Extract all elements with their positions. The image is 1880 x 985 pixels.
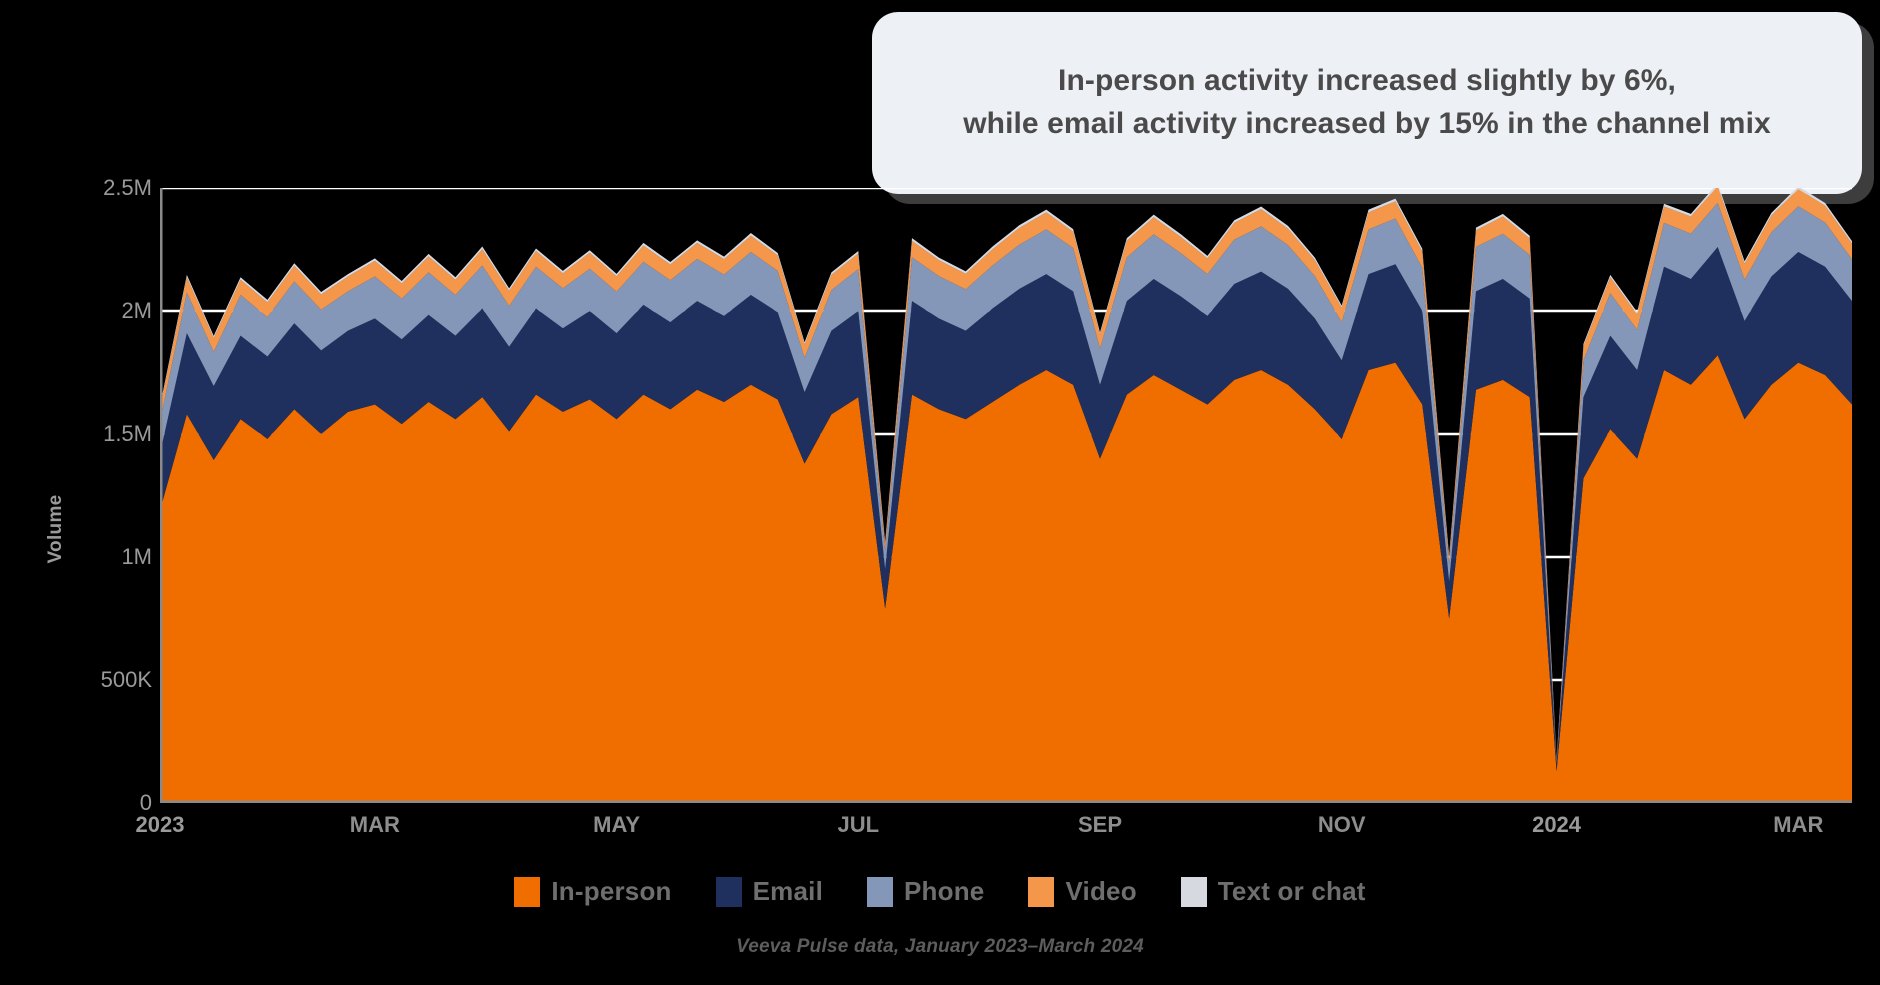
insight-callout: In-person activity increased slightly by… [872,12,1862,194]
x-tick-label: MAR [1773,812,1823,838]
legend-label: In-person [551,876,671,907]
legend-label: Email [753,876,823,907]
x-tick-label: MAY [593,812,640,838]
x-tick-label: 2024 [1532,812,1581,838]
legend-label: Phone [904,876,984,907]
y-tick-label: 2.5M [22,175,152,201]
legend-swatch-icon [867,877,893,907]
legend-item-email[interactable]: Email [716,876,823,907]
plot-area [160,188,1852,803]
x-tick-label: JUL [838,812,880,838]
legend-swatch-icon [514,877,540,907]
x-tick-label: 2023 [136,812,185,838]
callout-text: In-person activity increased slightly by… [963,60,1771,145]
y-tick-label: 1M [22,544,152,570]
legend-item-text-or-chat[interactable]: Text or chat [1181,876,1366,907]
x-axis: 2023MARMAYJULSEPNOV2024MAR [160,812,1852,846]
y-tick-label: 2M [22,298,152,324]
chart-legend: In-personEmailPhoneVideoText or chat [0,876,1880,907]
legend-label: Text or chat [1218,876,1366,907]
source-note: Veeva Pulse data, January 2023–March 202… [0,936,1880,958]
x-tick-label: SEP [1078,812,1122,838]
legend-swatch-icon [1181,877,1207,907]
legend-item-in-person[interactable]: In-person [514,876,671,907]
legend-item-phone[interactable]: Phone [867,876,984,907]
x-tick-label: MAR [350,812,400,838]
y-tick-label: 0 [22,790,152,816]
y-tick-label: 500K [22,667,152,693]
y-tick-label: 1.5M [22,421,152,447]
chart-page: In-person activity increased slightly by… [0,0,1880,985]
stacked-area-chart [160,188,1852,803]
legend-label: Video [1065,876,1136,907]
y-axis-title: Volume [45,449,67,609]
legend-swatch-icon [1028,877,1054,907]
y-axis: Volume 0500K1M1.5M2M2.5M [10,188,152,803]
legend-item-video[interactable]: Video [1028,876,1136,907]
x-tick-label: NOV [1318,812,1366,838]
legend-swatch-icon [716,877,742,907]
